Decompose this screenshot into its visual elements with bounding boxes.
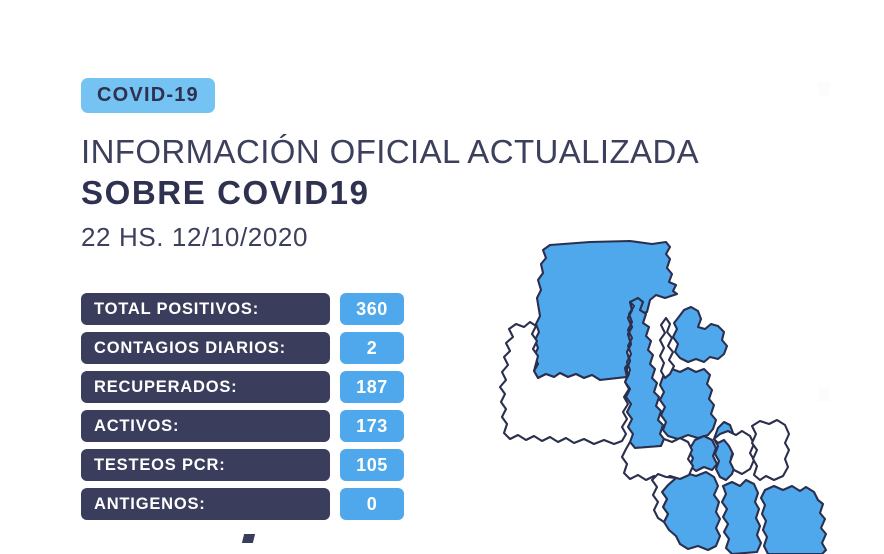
page-title-line1: INFORMACIÓN OFICIAL ACTUALIZADA <box>81 134 781 171</box>
statistics-table: TOTAL POSITIVOS: 360 CONTAGIOS DIARIOS: … <box>81 293 404 527</box>
stat-label-activos: ACTIVOS: <box>81 410 330 442</box>
map-region-unaffected <box>660 318 674 378</box>
table-row: TOTAL POSITIVOS: 360 <box>81 293 404 325</box>
stat-value-total-positivos: 360 <box>340 293 404 325</box>
watermark-artifact <box>818 82 830 96</box>
stat-label-total-positivos: TOTAL POSITIVOS: <box>81 293 330 325</box>
poster-canvas: COVID-19 INFORMACIÓN OFICIAL ACTUALIZADA… <box>0 0 884 554</box>
stat-label-separator: : <box>280 339 286 358</box>
stat-label-recuperados: RECUPERADOS: <box>81 371 330 403</box>
table-row: ACTIVOS: 173 <box>81 410 404 442</box>
stat-value-antigenos: 0 <box>340 488 404 520</box>
stat-value-testeos-pcr: 105 <box>340 449 404 481</box>
stat-label-text: ACTIVOS <box>94 417 173 436</box>
stat-label-antigenos: ANTIGENOS: <box>81 488 330 520</box>
stat-label-text: RECUPERADOS <box>94 378 231 397</box>
stat-label-separator: : <box>173 417 179 436</box>
stat-label-text: TESTEOS PCR <box>94 456 219 475</box>
covid19-badge: COVID-19 <box>81 78 215 113</box>
table-row: RECUPERADOS: 187 <box>81 371 404 403</box>
jujuy-departments-map <box>480 228 840 554</box>
stat-value-contagios-diarios: 2 <box>340 332 404 364</box>
stat-label-text: ANTIGENOS <box>94 495 199 514</box>
map-region-affected <box>673 307 727 362</box>
page-title-line2: SOBRE COVID19 <box>81 173 781 213</box>
clipped-accent-glyph <box>242 534 255 543</box>
map-region-unaffected <box>752 420 789 480</box>
table-row: ANTIGENOS: 0 <box>81 488 404 520</box>
stat-label-contagios-diarios: CONTAGIOS DIARIOS: <box>81 332 330 364</box>
stat-label-separator: : <box>231 378 237 397</box>
stat-label-separator: : <box>253 300 259 319</box>
map-region-affected <box>722 480 761 554</box>
stat-label-text: TOTAL POSITIVOS <box>94 300 253 319</box>
map-region-affected <box>534 241 677 380</box>
map-region-affected <box>761 486 826 554</box>
stat-label-separator: : <box>219 456 225 475</box>
table-row: CONTAGIOS DIARIOS: 2 <box>81 332 404 364</box>
map-region-affected <box>660 368 716 439</box>
stat-label-separator: : <box>199 495 205 514</box>
stat-label-testeos-pcr: TESTEOS PCR: <box>81 449 330 481</box>
stat-label-text: CONTAGIOS DIARIOS <box>94 339 280 358</box>
stat-value-recuperados: 187 <box>340 371 404 403</box>
table-row: TESTEOS PCR: 105 <box>81 449 404 481</box>
stat-value-activos: 173 <box>340 410 404 442</box>
